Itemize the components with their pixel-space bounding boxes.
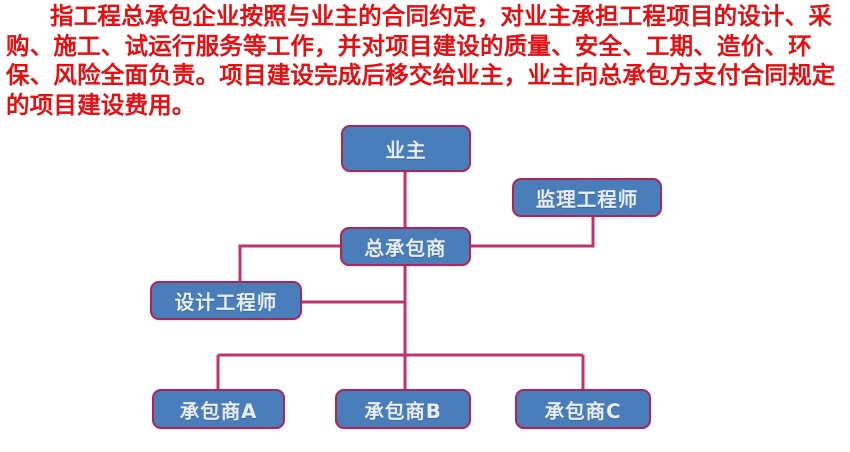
node-contractor-a[interactable]: 承包商A	[152, 389, 285, 429]
node-contractor-b[interactable]: 承包商B	[335, 389, 471, 429]
connector-general-to-supervisor	[471, 217, 593, 246]
node-contractor-a-label: 承包商A	[180, 395, 258, 424]
node-supervisor[interactable]: 监理工程师	[512, 178, 662, 217]
node-contractor-c-label: 承包商C	[545, 395, 622, 424]
node-supervisor-label: 监理工程师	[536, 183, 639, 212]
node-design-engineer[interactable]: 设计工程师	[150, 281, 302, 320]
body-paragraph: 指工程总承包企业按照与业主的合同约定，对业主承担工程项目的设计、采购、施工、试运…	[0, 2, 850, 120]
node-general-contractor-label: 总承包商	[364, 232, 446, 261]
node-owner-label: 业主	[385, 134, 426, 163]
node-design-engineer-label: 设计工程师	[175, 286, 278, 315]
node-contractor-c[interactable]: 承包商C	[515, 389, 651, 429]
node-general-contractor[interactable]: 总承包商	[340, 227, 471, 266]
slide-canvas: 指工程总承包企业按照与业主的合同约定，对业主承担工程项目的设计、采购、施工、试运…	[0, 0, 850, 452]
connector-general-to-design	[240, 246, 340, 281]
node-owner[interactable]: 业主	[341, 125, 471, 172]
node-contractor-b-label: 承包商B	[364, 395, 441, 424]
